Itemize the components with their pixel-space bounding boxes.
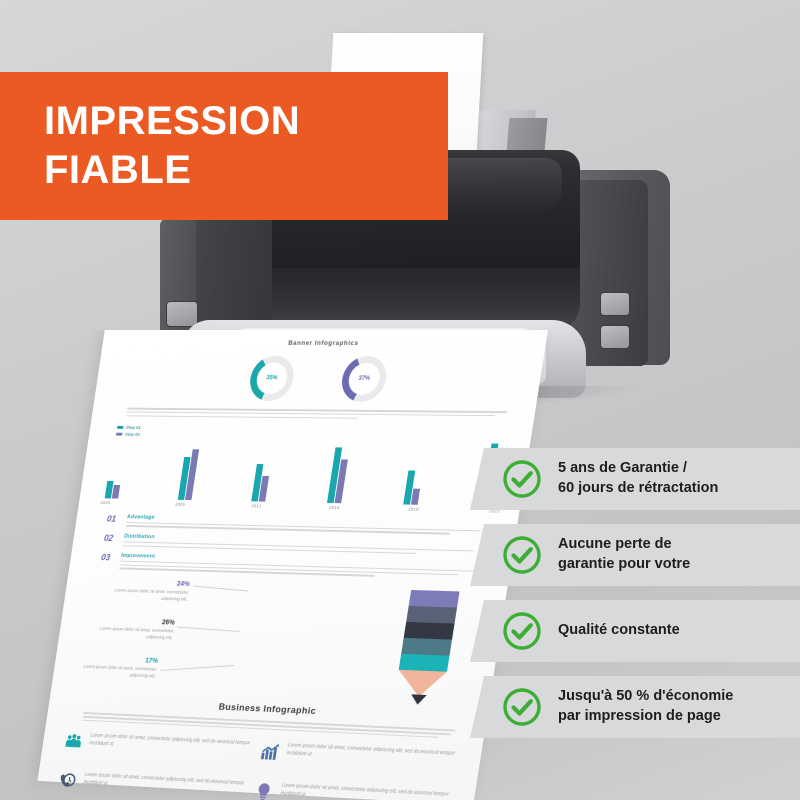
list-item: Lorem ipsum dolor sit amet, consectetur …: [57, 771, 256, 800]
step-number: 03: [100, 553, 116, 563]
printer-right-button-top[interactable]: [600, 292, 630, 316]
pencil-stat-1: 24% Lorem ipsum dolor sit amet, consecte…: [98, 579, 190, 603]
pencil-stat-text: Lorem ipsum dolor sit amet, consectetur …: [98, 587, 188, 603]
bar-group: [251, 464, 271, 502]
check-circle-icon: [502, 535, 542, 575]
feature-label: Qualité constante: [558, 621, 680, 641]
printer-left-button[interactable]: [166, 301, 198, 327]
people-group-icon: [63, 732, 84, 757]
legend-swatch-icon: [117, 426, 124, 429]
growth-chart-icon: [258, 741, 280, 766]
donut-chart-1: 35%: [247, 356, 297, 402]
feature-label: Jusqu'à 50 % d'économie par impression d…: [558, 687, 733, 726]
page-title: IMPRESSIONFIABLE: [44, 97, 448, 195]
icon-item-text: Lorem ipsum dolor sit amet, consectetur …: [280, 783, 456, 800]
icon-item-text: Lorem ipsum dolor sit amet, consectetur …: [89, 733, 257, 756]
check-circle-icon: [502, 459, 542, 499]
pencil-lead: [410, 694, 427, 705]
bar-group: [105, 481, 121, 499]
feature-row-savings: Jusqu'à 50 % d'économie par impression d…: [470, 676, 800, 738]
pencil-stat-3: 17% Lorem ipsum dolor sit amet, consecte…: [67, 655, 158, 680]
bar-group: [404, 471, 424, 505]
x-tick-label: 2006: [100, 500, 111, 505]
feature-label: 5 ans de Garantie / 60 jours de rétracta…: [558, 459, 718, 498]
list-item: Lorem ipsum dolor sit amet, consectetur …: [252, 782, 461, 800]
x-tick-label: 2012: [251, 503, 262, 508]
pencil-tip: [395, 670, 447, 698]
intro-placeholder-text: [126, 408, 508, 421]
donut-chart-2-value: 37%: [339, 356, 390, 402]
feature-row-no-warranty-loss: Aucune perte de garantie pour votre: [470, 524, 800, 586]
pencil-stat-text: Lorem ipsum dolor sit amet, consectetur …: [67, 663, 157, 679]
list-item: Lorem ipsum dolor sit amet, consectetur …: [258, 741, 467, 776]
pencil-stat-text: Lorem ipsum dolor sit amet, consectetur …: [84, 625, 174, 641]
pencil-infographic: 24% Lorem ipsum dolor sit amet, consecte…: [72, 576, 493, 707]
check-circle-icon: [502, 687, 542, 727]
printer-right-button-bottom[interactable]: [600, 325, 630, 349]
pencil-graphic: [395, 590, 460, 698]
bar-group: [327, 448, 350, 504]
list-item: Lorem ipsum dolor sit amet, consectetur …: [63, 732, 263, 766]
feature-label: Aucune perte de garantie pour votre: [558, 535, 690, 574]
icon-feature-grid: Lorem ipsum dolor sit amet, consectetur …: [54, 732, 467, 800]
pencil-stat-2: 26% Lorem ipsum dolor sit amet, consecte…: [84, 617, 175, 642]
bar-group: [177, 449, 198, 500]
bar-chart: [105, 439, 507, 507]
donut-chart-2: 37%: [339, 356, 390, 402]
headline-line-2: FIABLE: [44, 148, 191, 192]
pencil-stat-value: 24%: [101, 579, 191, 589]
product-banner: Banner Infographics 35% 37%: [0, 0, 800, 800]
numbered-step-list: 01 Advantage 02 Distribution: [99, 514, 498, 582]
feature-row-quality: Qualité constante: [470, 600, 800, 662]
legend-swatch-icon: [116, 433, 123, 436]
check-circle-icon: [502, 611, 542, 651]
feature-row-warranty: 5 ans de Garantie / 60 jours de rétracta…: [470, 448, 800, 510]
donut-chart-group: 35% 37%: [116, 355, 530, 403]
donut-chart-1-value: 35%: [247, 356, 297, 402]
lightbulb-icon: [252, 782, 274, 800]
clock-phone-icon: [57, 771, 78, 796]
legend-label: Step 02: [125, 432, 140, 437]
x-tick-label: 2018: [408, 507, 419, 512]
icon-item-text: Lorem ipsum dolor sit amet, consectetur …: [83, 772, 250, 796]
legend-label: Step 01: [126, 425, 141, 430]
feature-list: 5 ans de Garantie / 60 jours de rétracta…: [470, 448, 800, 752]
step-number: 02: [103, 533, 119, 543]
step-number: 01: [106, 514, 122, 524]
x-tick-label: 2015: [329, 505, 340, 510]
x-tick-label: 2009: [175, 502, 186, 507]
headline-banner: IMPRESSIONFIABLE: [0, 72, 448, 220]
headline-line-1: IMPRESSION: [44, 99, 300, 143]
infographic-header-title: Banner Infographics: [124, 340, 533, 348]
icon-item-text: Lorem ipsum dolor sit amet, consectetur …: [286, 743, 462, 767]
